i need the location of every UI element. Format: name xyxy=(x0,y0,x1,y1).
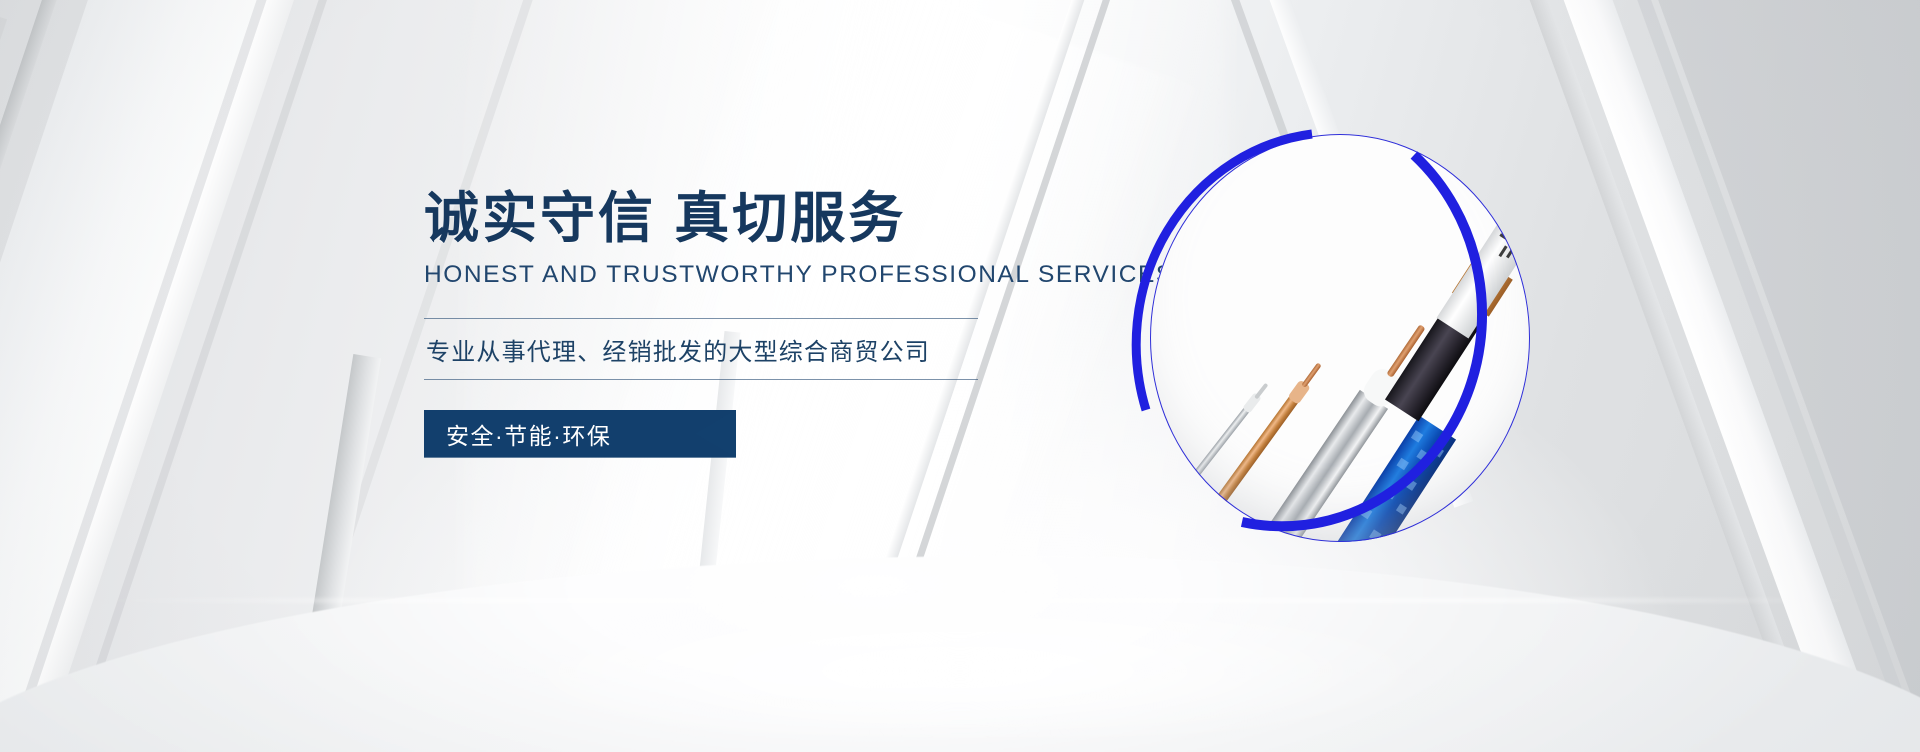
banner-headline: 诚实守信 真切服务 xyxy=(424,188,1024,250)
feature-ribbon: 安全·节能·环保 xyxy=(424,410,736,458)
product-medallion xyxy=(1140,128,1540,548)
divider-top xyxy=(424,318,978,319)
ribbon-label: 安全·节能·环保 xyxy=(424,417,611,451)
blue-arc-decoration xyxy=(1114,114,1574,574)
hero-banner: 诚实守信 真切服务 HONEST AND TRUSTWORTHY PROFESS… xyxy=(0,0,1920,752)
banner-copy: 诚实守信 真切服务 HONEST AND TRUSTWORTHY PROFESS… xyxy=(424,188,1024,458)
divider-bottom xyxy=(424,379,978,380)
banner-subhead-english: HONEST AND TRUSTWORTHY PROFESSIONAL SERV… xyxy=(424,261,1024,289)
banner-subtitle-chinese: 专业从事代理、经销批发的大型综合商贸公司 xyxy=(424,319,1024,379)
